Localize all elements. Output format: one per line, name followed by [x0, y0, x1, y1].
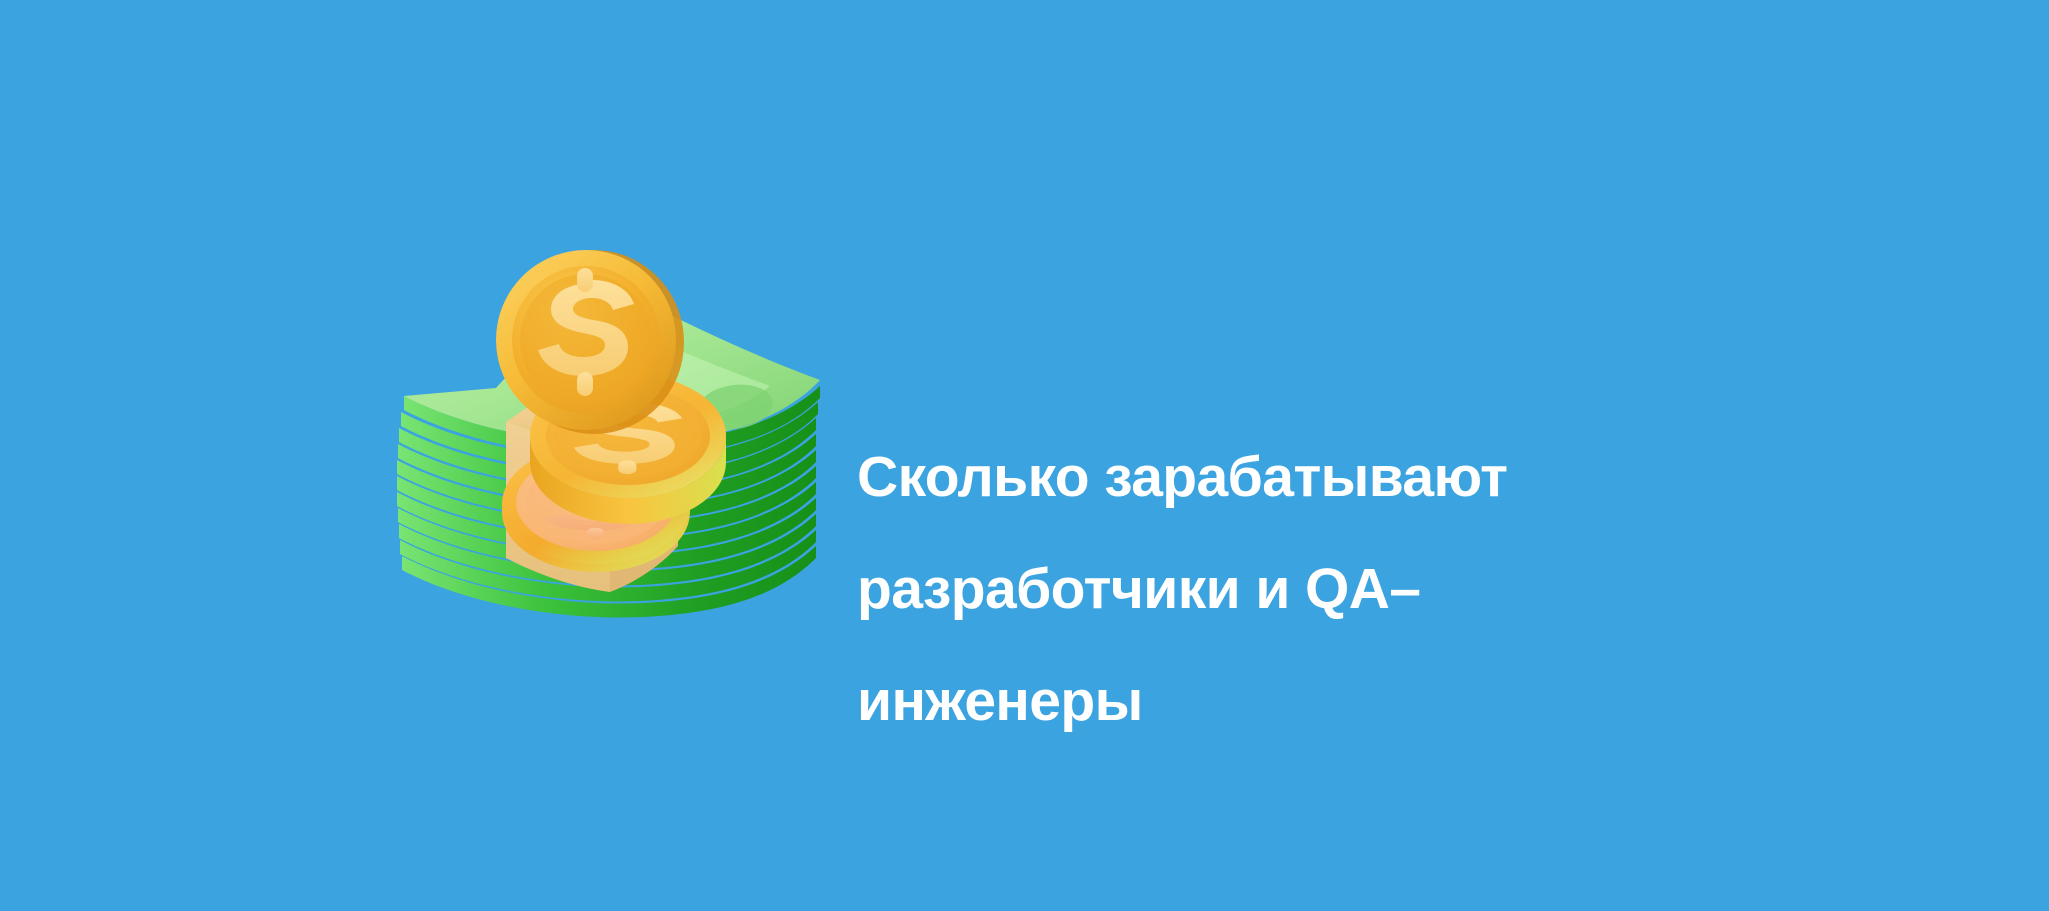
money-stack-with-coins-illustration — [380, 240, 840, 660]
salary-article-banner: Сколько зарабатывают разработчики и QA– … — [0, 0, 2049, 911]
page-title: Сколько зарабатывают разработчики и QA– … — [857, 393, 1677, 785]
headline-line-2: разработчики и QA– — [857, 561, 1677, 617]
headline-line-3: инженеры — [857, 673, 1677, 729]
headline-line-1: Сколько зарабатывают — [857, 449, 1677, 505]
money-illustration-svg — [380, 240, 840, 660]
